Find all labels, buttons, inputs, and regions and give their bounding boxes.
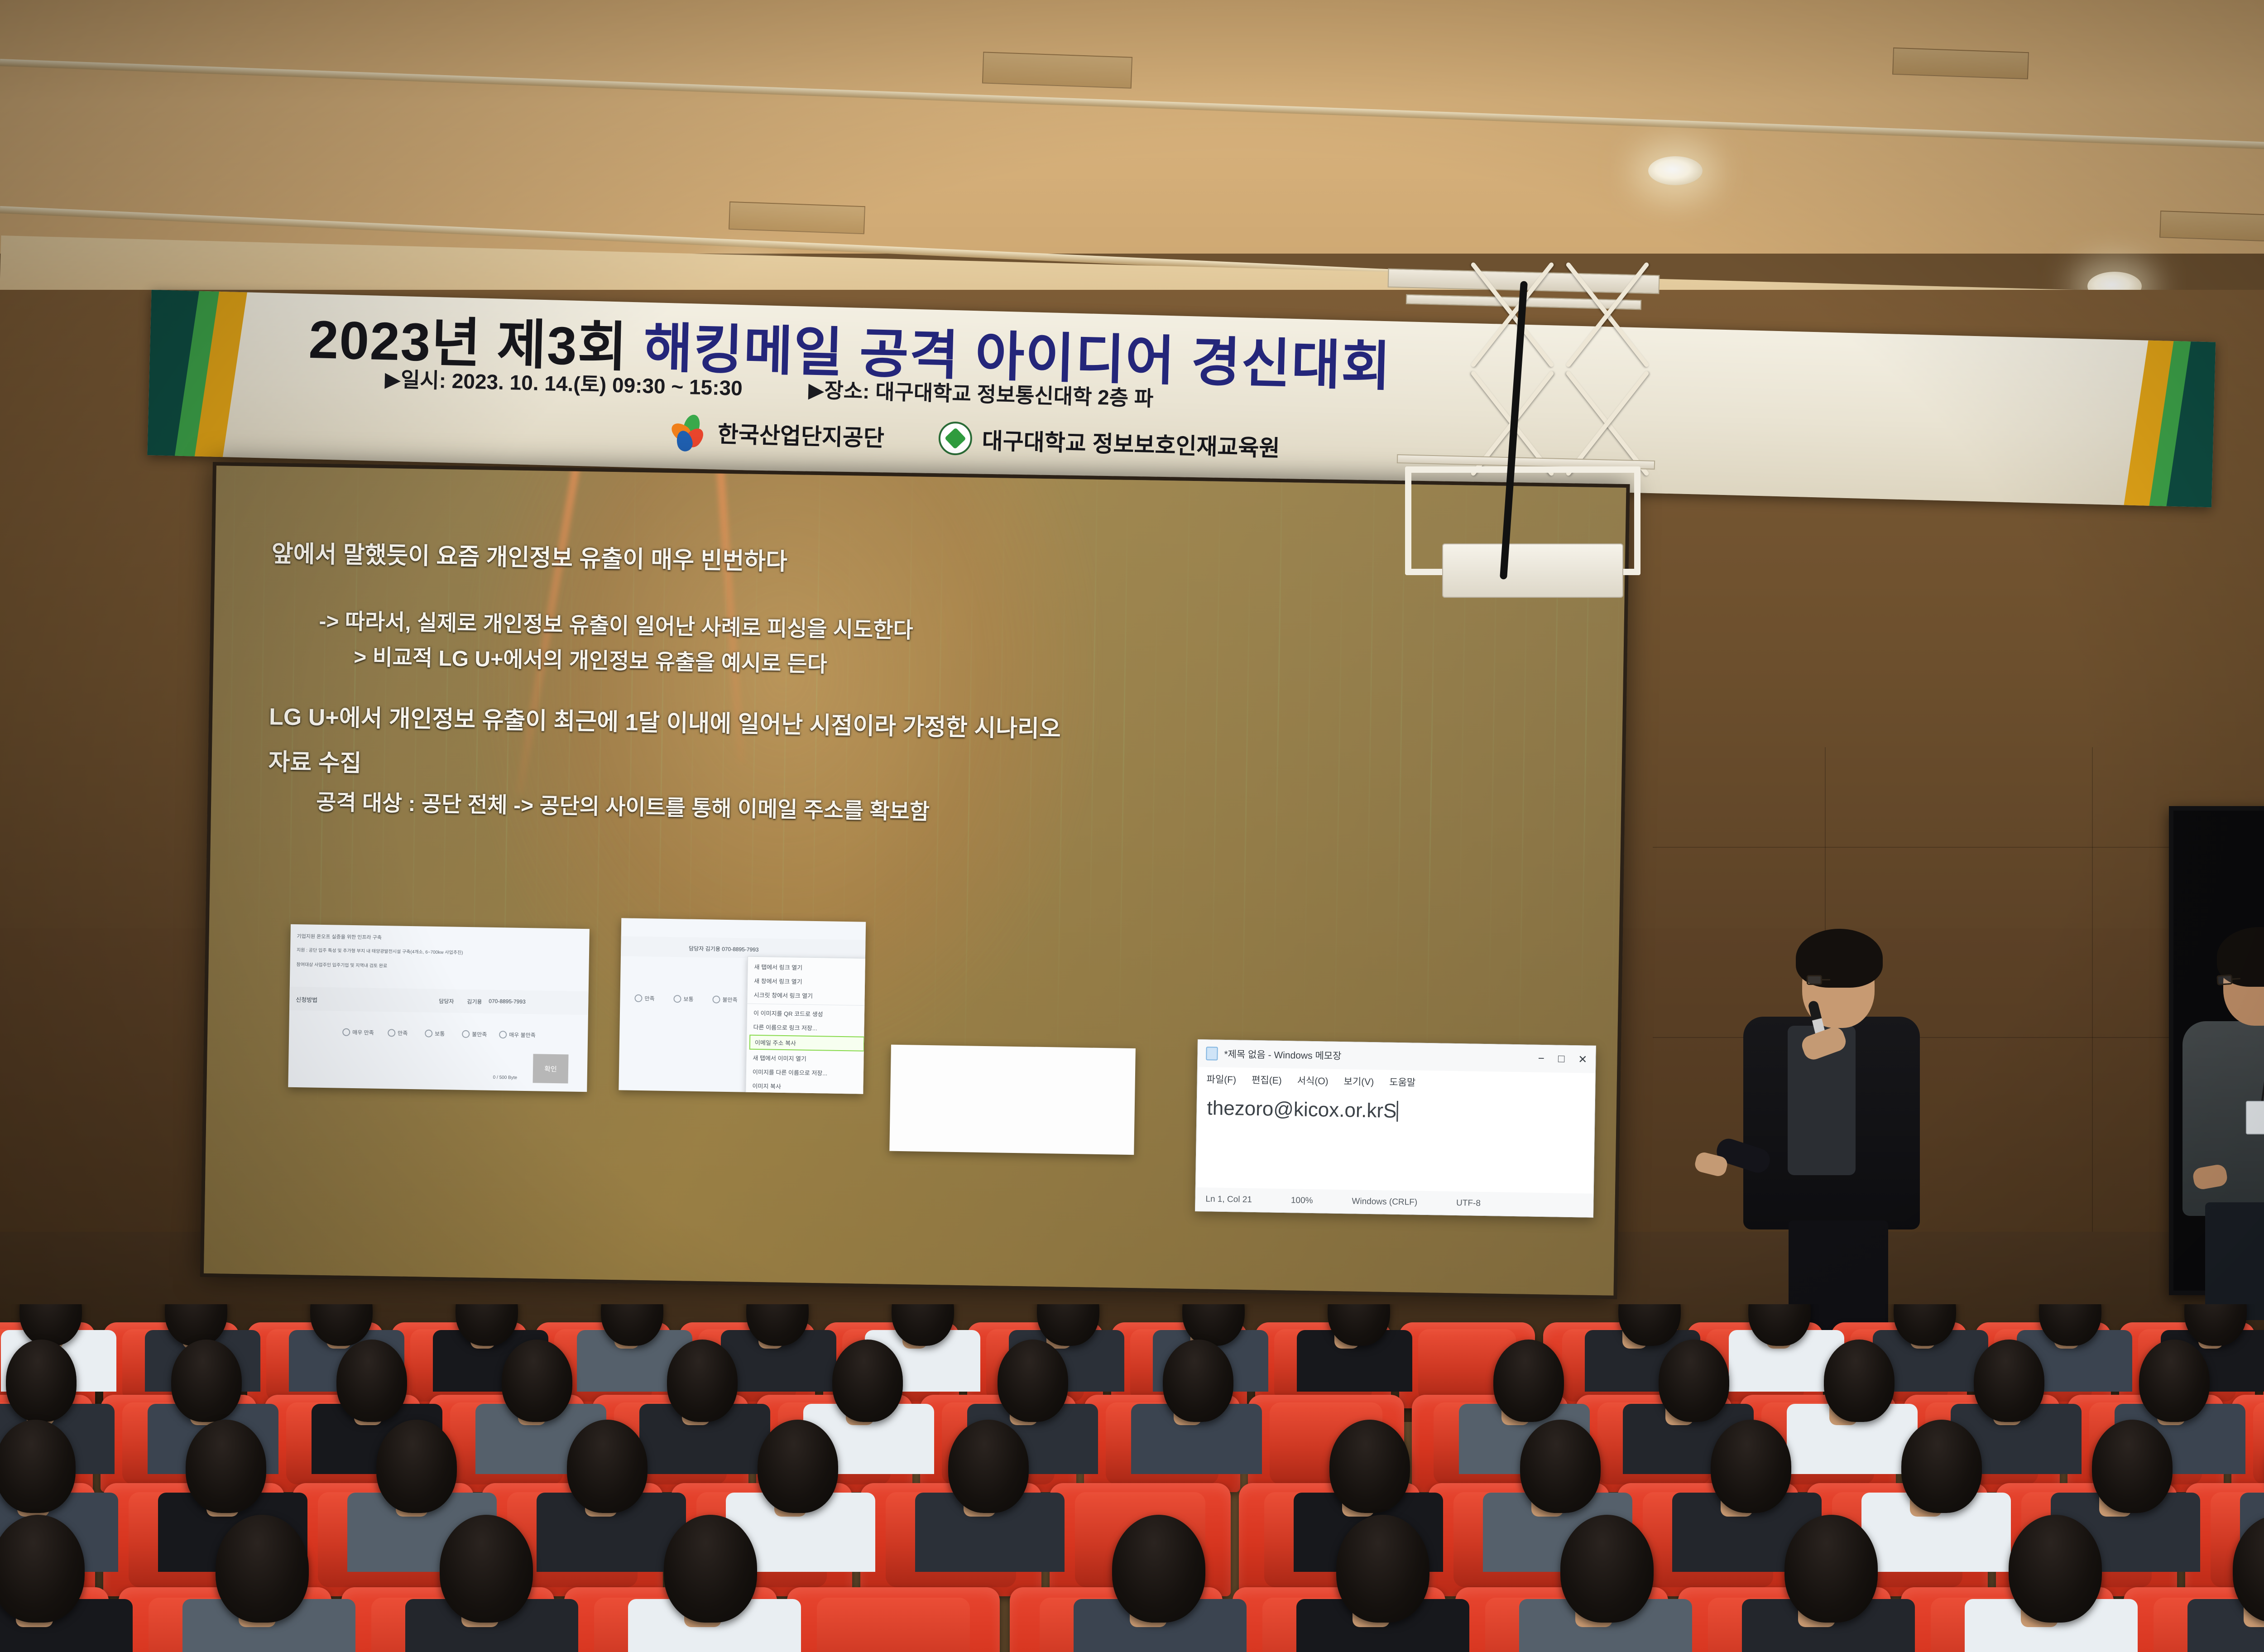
audience-member-head bbox=[1901, 1420, 1982, 1513]
notepad-icon bbox=[1206, 1047, 1218, 1060]
form-body-line-1: 기업지원 온오프 실증을 위한 인프라 구축 bbox=[297, 932, 382, 941]
context-menu-item[interactable]: 이미지를 다른 이름으로 저장... bbox=[746, 1065, 866, 1081]
audience-member-head bbox=[336, 1340, 407, 1422]
slide-screenshot-webform: 기업지원 온오프 실증을 위한 인프라 구축 지원 : 공단 입주 특성 및 추… bbox=[288, 924, 590, 1092]
kicox-pinwheel-icon bbox=[673, 414, 708, 449]
slide-line-6: 공격 대상 : 공단 전체 -> 공단의 사이트를 통해 이메일 주소를 확보함 bbox=[316, 784, 930, 826]
form-contact-name: 김기용 bbox=[467, 998, 482, 1006]
wall-panel-line bbox=[2092, 747, 2093, 1268]
context-menu-item-copy-email[interactable]: 이메일 주소 복사 bbox=[749, 1035, 864, 1052]
radio-option[interactable] bbox=[712, 995, 720, 1003]
form-section-label: 신청방법 bbox=[296, 995, 317, 1004]
menu-help[interactable]: 도움말 bbox=[1389, 1075, 1415, 1089]
form-submit-button[interactable]: 확인 bbox=[533, 1054, 569, 1083]
context-menu-item[interactable]: 새 탭에서 이미지 열기 bbox=[746, 1051, 866, 1066]
ceiling-projector-lift bbox=[1379, 272, 1669, 716]
slide-line-2: -> 따라서, 실제로 개인정보 유출이 일어난 사례로 피싱을 시도한다 bbox=[319, 603, 913, 644]
audience-member-head bbox=[2009, 1515, 2102, 1623]
audience-member-head bbox=[216, 1515, 309, 1623]
audience-member-head bbox=[440, 1515, 533, 1623]
status-zoom: 100% bbox=[1291, 1196, 1313, 1206]
context-menu-item[interactable]: 다른 이름으로 링크 저장... bbox=[747, 1020, 866, 1036]
form-contact-label: 담당자 bbox=[439, 997, 454, 1005]
audience-member-head bbox=[1163, 1340, 1233, 1422]
slide-line-1: 앞에서 말했듯이 요즘 개인정보 유출이 매우 빈번하다 bbox=[271, 534, 787, 576]
auditorium-seat bbox=[787, 1587, 1000, 1652]
audience-member-head bbox=[758, 1420, 838, 1513]
radio-option[interactable] bbox=[425, 1030, 432, 1037]
context-menu-item[interactable]: 새 탭에서 링크 열기 bbox=[748, 960, 866, 975]
radio-option[interactable] bbox=[342, 1028, 350, 1036]
audience-member-head bbox=[186, 1420, 266, 1513]
audience-member-head bbox=[667, 1340, 738, 1422]
audience-member-head bbox=[1784, 1515, 1878, 1623]
audience-member-head bbox=[171, 1340, 242, 1422]
notepad-title: *제목 없음 - Windows 메모장 bbox=[1224, 1047, 1532, 1066]
menu-file[interactable]: 파일(F) bbox=[1206, 1072, 1236, 1086]
radio-option[interactable] bbox=[499, 1031, 507, 1038]
audience-member-head bbox=[502, 1340, 572, 1422]
banner-date: ▶일시: 2023. 10. 14.(토) 09:30 ~ 15:30 bbox=[384, 367, 743, 400]
audience-member-head bbox=[376, 1420, 457, 1513]
text-caret bbox=[1396, 1101, 1398, 1122]
audience-member-head bbox=[664, 1515, 757, 1623]
audience-member-head bbox=[1493, 1340, 1564, 1422]
status-eol: Windows (CRLF) bbox=[1352, 1196, 1417, 1207]
ceiling-vent bbox=[2159, 211, 2264, 242]
audience-member-head bbox=[1974, 1340, 2044, 1422]
audience-member-head bbox=[567, 1420, 648, 1513]
form-contact-phone: 070-8895-7993 bbox=[489, 998, 526, 1005]
radio-option[interactable] bbox=[673, 995, 681, 1003]
banner-stripes-right bbox=[2103, 339, 2216, 507]
context-menu-item[interactable]: 시크릿 창에서 링크 열기 bbox=[747, 988, 866, 1004]
radio-option[interactable] bbox=[388, 1029, 395, 1037]
audience-member-head bbox=[1659, 1340, 1729, 1422]
notepad-window[interactable]: *제목 없음 - Windows 메모장 − □ ✕ 파일(F) 편집(E) 서… bbox=[1195, 1039, 1596, 1218]
form-char-counter: 0 / 500 Byte bbox=[493, 1075, 518, 1081]
menu-edit[interactable]: 편집(E) bbox=[1252, 1073, 1282, 1087]
browser-context-menu[interactable]: 새 탭에서 링크 열기 새 창에서 링크 열기 시크릿 창에서 링크 열기 이 … bbox=[745, 956, 866, 1094]
kicox-label: 한국산업단지공단 bbox=[717, 416, 885, 453]
slide-line-5: 자료 수집 bbox=[268, 743, 362, 778]
status-caret-position: Ln 1, Col 21 bbox=[1205, 1194, 1252, 1205]
banner-place: ▶장소: 대구대학교 정보통신대학 2층 파 bbox=[808, 378, 1154, 410]
ceiling bbox=[0, 0, 2264, 254]
minimize-icon[interactable]: − bbox=[1538, 1052, 1545, 1065]
auditorium-photo-scene: 2023년 제3회 해킹메일 공격 아이디어 경신대회 ▶일시: 2023. 1… bbox=[0, 0, 2264, 1652]
audience-member-head bbox=[1336, 1515, 1429, 1623]
radio-label-3: 불만족 bbox=[722, 996, 737, 1004]
audience-member-head bbox=[832, 1340, 903, 1422]
audience-member-head bbox=[2139, 1340, 2210, 1422]
notepad-text-area[interactable]: thezoro@kicox.or.krS bbox=[1196, 1090, 1595, 1194]
radio-option[interactable] bbox=[634, 994, 642, 1002]
notepad-content: thezoro@kicox.or.krS bbox=[1207, 1097, 1397, 1122]
context-menu-item[interactable]: 이미지 복사 bbox=[746, 1079, 866, 1094]
radio-label-2: 만족 bbox=[398, 1029, 408, 1037]
audience-seating bbox=[0, 1304, 2264, 1652]
audience-member-head bbox=[2092, 1420, 2173, 1513]
presenter bbox=[1734, 890, 1929, 1343]
slide-screenshot-contextmenu: 담당자 김기용 070-8895-7993 만족 보통 불만족 새 탭에서 링크… bbox=[619, 918, 866, 1094]
form-body-line-3: 참여대상 사업주인 입주기업 및 지역내 검토 완료 bbox=[296, 960, 387, 969]
ceiling-projector bbox=[1442, 543, 1623, 598]
audience-member-head bbox=[1329, 1420, 1410, 1513]
audience-member-head bbox=[1711, 1420, 1791, 1513]
maximize-icon[interactable]: □ bbox=[1558, 1052, 1565, 1066]
radio-label-4: 불만족 bbox=[472, 1030, 487, 1038]
audience-member-head bbox=[6, 1340, 77, 1422]
radio-label-1: 매우 만족 bbox=[352, 1028, 374, 1037]
slide-screenshot-notepad-backing bbox=[889, 1045, 1136, 1155]
glasses-icon bbox=[1807, 975, 1846, 985]
daegu-univ-emblem-icon bbox=[938, 421, 973, 456]
audience-member-head bbox=[948, 1420, 1029, 1513]
banner-stripes-left bbox=[147, 290, 301, 459]
radio-label-1: 만족 bbox=[644, 994, 654, 1002]
audience-member-head bbox=[1520, 1420, 1601, 1513]
daegu-univ-label: 대구대학교 정보보호인재교육원 bbox=[982, 423, 1281, 463]
sponsor-kicox: 한국산업단지공단 bbox=[673, 414, 885, 454]
audience-member-head bbox=[998, 1340, 1068, 1422]
menu-format[interactable]: 서식(O) bbox=[1297, 1073, 1328, 1087]
radio-option[interactable] bbox=[462, 1030, 470, 1038]
contact-line: 담당자 김기용 070-8895-7993 bbox=[689, 945, 759, 953]
assistant-trousers bbox=[2205, 1202, 2264, 1320]
ceiling-vent bbox=[982, 52, 1132, 88]
close-icon[interactable]: ✕ bbox=[1578, 1053, 1588, 1066]
slide-line-4: LG U+에서 개인정보 유출이 최근에 1달 이내에 일어난 시점이라 가정한… bbox=[269, 697, 1061, 744]
menu-view[interactable]: 보기(V) bbox=[1343, 1074, 1374, 1088]
form-body-line-2: 지원 : 공단 입주 특성 및 추가형 부지 내 태양광발전시설 구축(4개소,… bbox=[297, 946, 463, 956]
ceiling-vent bbox=[729, 202, 865, 234]
ceiling-downlight bbox=[1648, 156, 1703, 185]
radio-label-5: 매우 불만족 bbox=[509, 1031, 536, 1039]
audience-member-head bbox=[1824, 1340, 1895, 1422]
audience-member-head bbox=[1560, 1515, 1654, 1623]
context-menu-item[interactable]: 이 이미지를 QR 코드로 생성 bbox=[747, 1006, 866, 1022]
name-badge bbox=[2246, 1101, 2264, 1134]
slide-line-3: > 비교적 LG U+에서의 개인정보 유출을 예시로 든다 bbox=[354, 639, 828, 678]
radio-label-3: 보통 bbox=[435, 1030, 445, 1037]
audience-member-head bbox=[1112, 1515, 1205, 1623]
audience-member-head bbox=[0, 1420, 76, 1513]
ceiling-vent bbox=[1892, 48, 2029, 79]
sponsor-daegu-univ: 대구대학교 정보보호인재교육원 bbox=[938, 421, 1281, 463]
assistant bbox=[2178, 885, 2264, 1320]
radio-label-2: 보통 bbox=[683, 995, 693, 1003]
status-encoding: UTF-8 bbox=[1456, 1198, 1481, 1209]
context-menu-item[interactable]: 새 창에서 링크 열기 bbox=[748, 974, 866, 989]
